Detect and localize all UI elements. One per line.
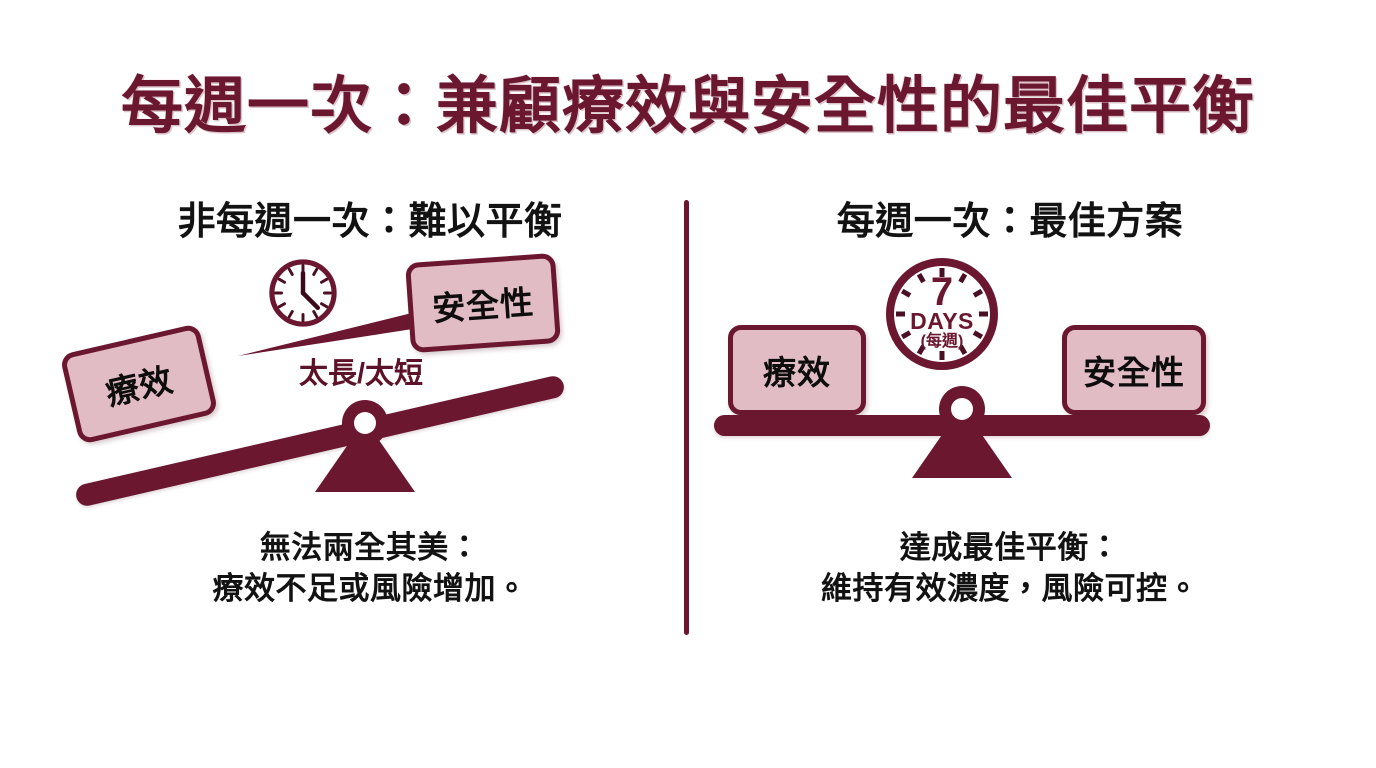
caption-line-2-right: 維持有效濃度，風險可控。 (700, 569, 1320, 610)
pan-label-safety-left: 安全性 (430, 276, 535, 331)
page-title: 每週一次：兼顧療效與安全性的最佳平衡 (0, 74, 1376, 139)
panel-weekly: 每週一次：最佳方案 (700, 190, 1320, 650)
pan-label-efficacy-left: 療效 (100, 353, 177, 415)
seven-days-clock-face (880, 252, 1004, 376)
panel-subtitle-right: 每週一次：最佳方案 (700, 190, 1320, 245)
panel-caption-right: 達成最佳平衡： 維持有效濃度，風險可控。 (700, 528, 1320, 610)
panel-subtitle-left: 非每週一次：難以平衡 (60, 190, 680, 245)
caption-line-1-left: 無法兩全其美： (60, 528, 680, 569)
pan-label-efficacy-right: 療效 (763, 346, 831, 394)
seven-days-clock-icon: 7 DAYS (每週) (880, 252, 1004, 376)
infographic-canvas: 每週一次：兼顧療效與安全性的最佳平衡 非每週一次：難以平衡 (0, 0, 1376, 768)
scale-unbalanced: 太長/太短 療效 安全性 (60, 250, 680, 520)
panel-caption-left: 無法兩全其美： 療效不足或風險增加。 (60, 528, 680, 610)
panel-non-weekly: 非每週一次：難以平衡 (60, 190, 680, 650)
pan-box-efficacy-right: 療效 (728, 325, 866, 415)
caption-line-2-left: 療效不足或風險增加。 (60, 569, 680, 610)
scale-fulcrum-right (912, 386, 1012, 478)
fulcrum-hole (354, 412, 376, 434)
scale-balanced: 7 DAYS (每週) 療效 安全性 (700, 250, 1320, 520)
scale-fulcrum-left (315, 400, 415, 492)
fulcrum-hole (951, 398, 973, 420)
scale-annotation-left: 太長/太短 (236, 350, 486, 392)
pan-box-efficacy-left: 療效 (59, 323, 218, 445)
caption-line-1-right: 達成最佳平衡： (700, 528, 1320, 569)
vertical-divider (684, 200, 689, 635)
pan-label-safety-right: 安全性 (1083, 346, 1185, 394)
pan-box-safety-right: 安全性 (1062, 325, 1206, 415)
pan-box-safety-left: 安全性 (405, 253, 561, 353)
